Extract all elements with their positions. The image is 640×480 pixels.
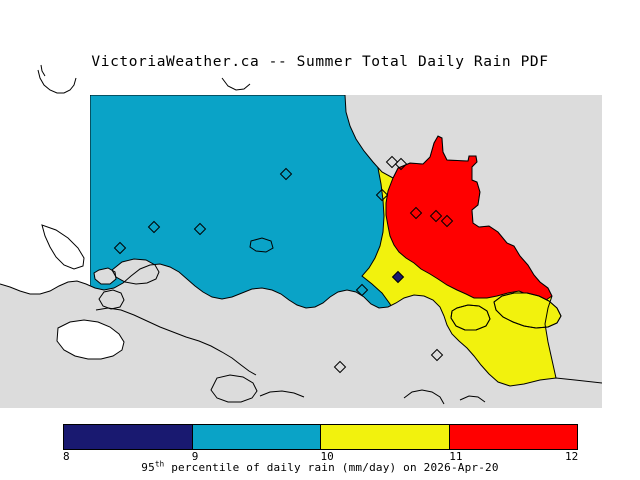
colorbar-caption: 95th percentile of daily rain (mm/day) o… <box>0 461 640 474</box>
coastline-fragments-offframe <box>38 65 250 93</box>
colorbar-band-8-9[interactable] <box>64 425 192 449</box>
caption-superscript: th <box>155 459 164 468</box>
weather-map-screenshot: VictoriaWeather.ca -- Summer Total Daily… <box>0 0 640 480</box>
colorbar-container <box>63 424 578 450</box>
colorbar-band-11-12[interactable] <box>449 425 578 449</box>
map-svg <box>0 60 640 410</box>
colorbar-band-10-11[interactable] <box>320 425 449 449</box>
colorbar-band-9-10[interactable] <box>192 425 321 449</box>
caption-suffix: percentile of daily rain (mm/day) on 202… <box>164 461 498 474</box>
colorbar[interactable] <box>63 424 578 450</box>
map-plot-area[interactable] <box>0 60 640 410</box>
caption-prefix: 95 <box>141 461 155 474</box>
